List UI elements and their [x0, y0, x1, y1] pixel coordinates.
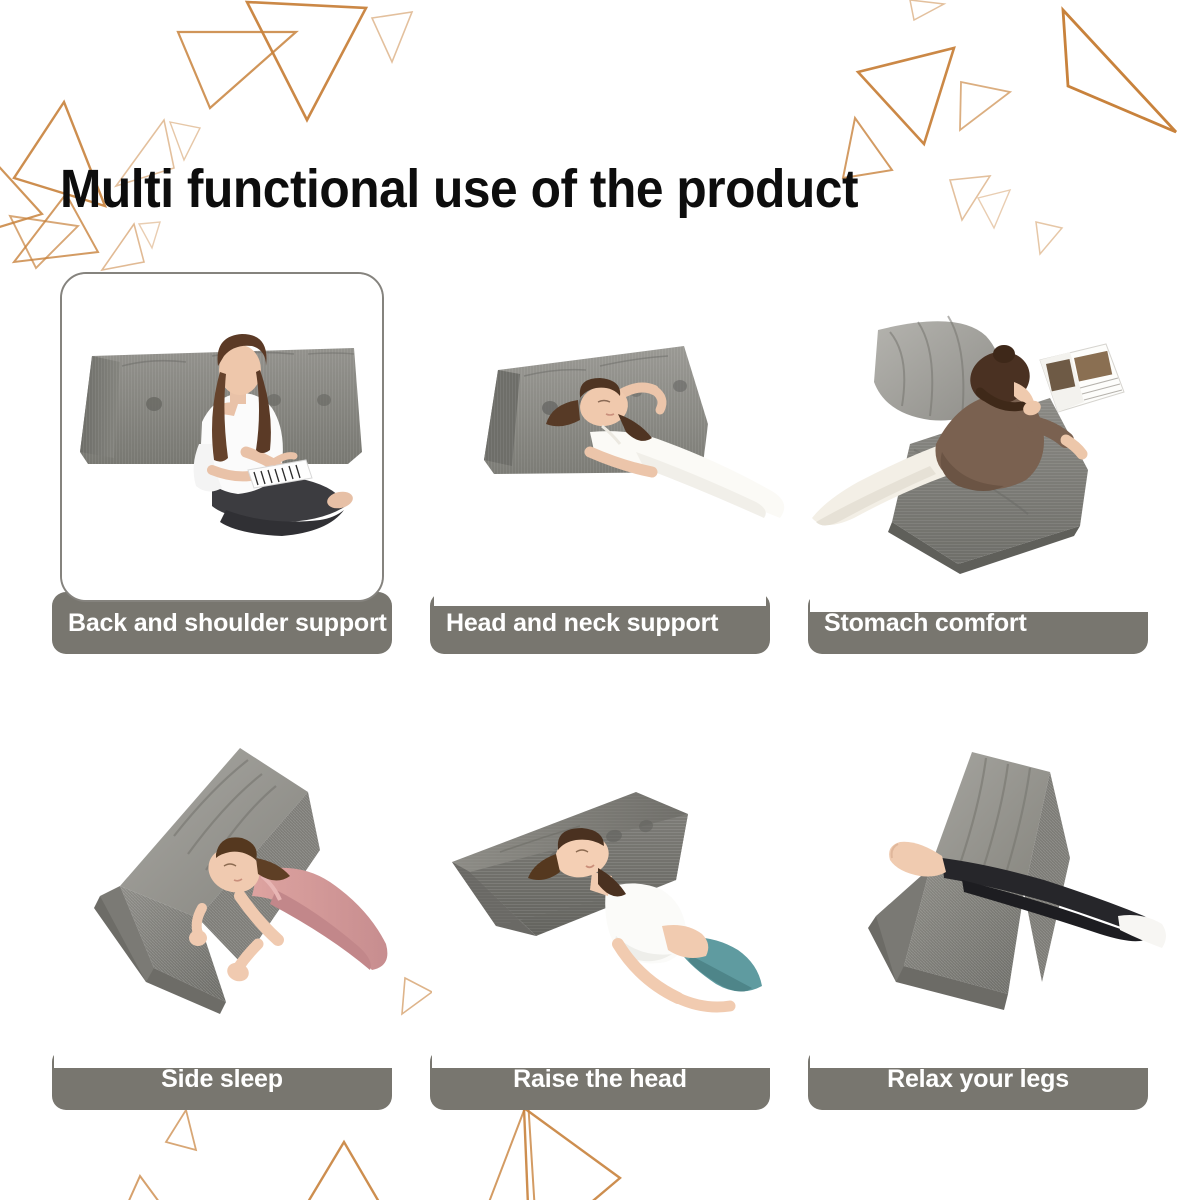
feature-card-stomach-comfort[interactable]: Stomach comfort	[808, 272, 1148, 654]
card-caption: Back and shoulder support	[52, 609, 392, 638]
card-caption: Head and neck support	[430, 609, 770, 638]
card-caption: Stomach comfort	[808, 609, 1148, 638]
page-title: Multi functional use of the product	[60, 158, 858, 220]
feature-card-side-sleep[interactable]: Side sleep	[52, 728, 392, 1110]
card-photo-frame	[438, 272, 762, 602]
card-photo	[440, 274, 760, 600]
card-photo-frame	[816, 272, 1140, 602]
scene-woman-lying-back	[440, 274, 760, 600]
scene-legs-elevated	[818, 730, 1138, 1056]
scene-woman-on-stomach-reading	[818, 274, 1138, 600]
scene-woman-sitting-reading	[62, 274, 382, 600]
card-photo-frame	[816, 728, 1140, 1058]
card-photo-frame	[60, 272, 384, 602]
card-caption: Relax your legs	[808, 1065, 1148, 1094]
feature-card-relax-your-legs[interactable]: Relax your legs	[808, 728, 1148, 1110]
card-photo-frame	[438, 728, 762, 1058]
card-photo	[818, 274, 1138, 600]
scene-woman-head-raised	[440, 730, 760, 1056]
card-caption: Raise the head	[430, 1065, 770, 1094]
card-photo	[818, 730, 1138, 1056]
feature-card-head-and-neck-support[interactable]: Head and neck support	[430, 272, 770, 654]
card-photo	[440, 730, 760, 1056]
scene-woman-side-sleeping	[62, 730, 382, 1056]
card-photo-frame	[60, 728, 384, 1058]
card-photo	[62, 274, 382, 600]
card-photo	[62, 730, 382, 1056]
card-caption: Side sleep	[52, 1065, 392, 1094]
feature-card-back-and-shoulder-support[interactable]: Back and shoulder support	[52, 272, 392, 654]
feature-card-raise-the-head[interactable]: Raise the head	[430, 728, 770, 1110]
